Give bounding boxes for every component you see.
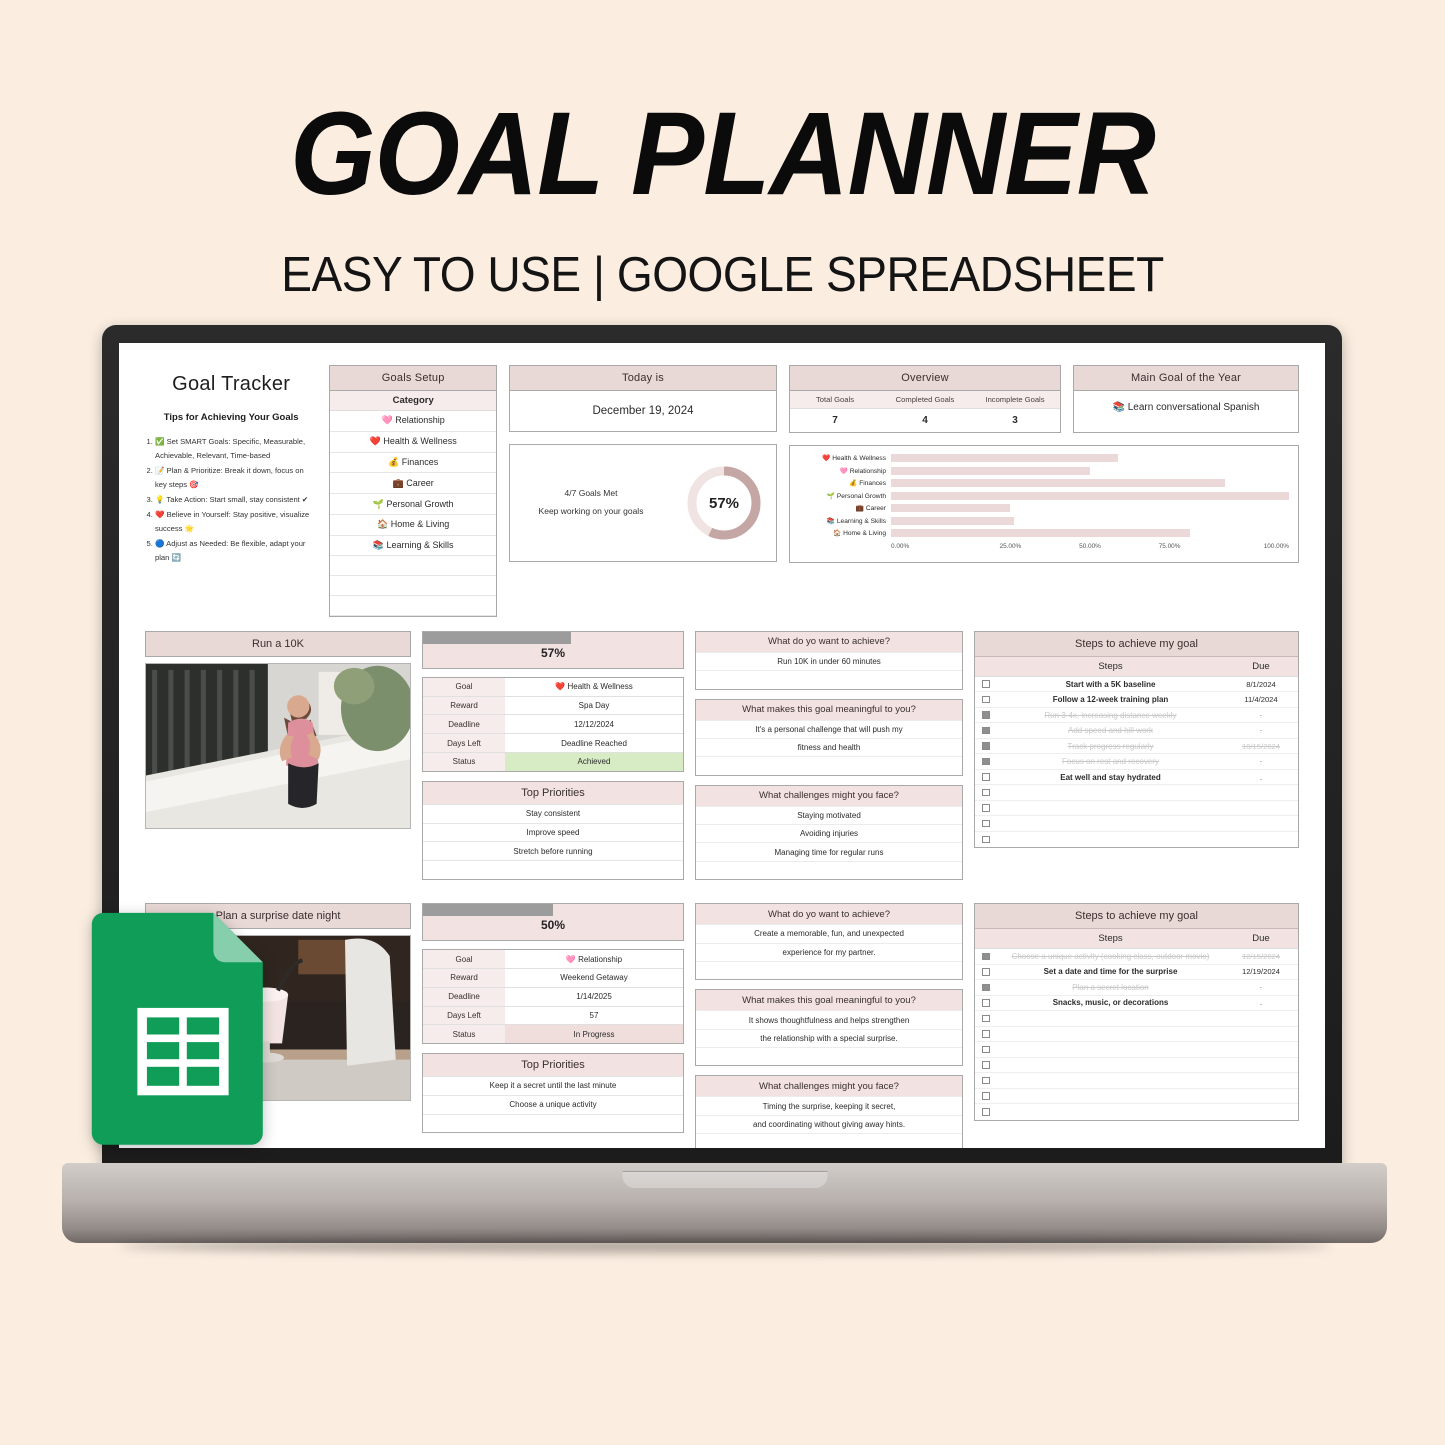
- step-due-date[interactable]: .: [1224, 998, 1298, 1007]
- step-due-date[interactable]: .: [1224, 1029, 1298, 1038]
- step-text[interactable]: Snacks, music, or decorations: [997, 998, 1224, 1007]
- checkbox-icon[interactable]: [982, 1092, 990, 1100]
- step-due-date[interactable]: .: [1224, 804, 1298, 813]
- checkbox-icon[interactable]: [982, 1077, 990, 1085]
- chart-bar-fill: [891, 467, 1090, 475]
- question-answer-line-empty[interactable]: .: [696, 861, 962, 879]
- detail-row: Deadline 12/12/2024: [423, 715, 683, 734]
- goal-card-details-column: 57% Goal ❤️ Health & Wellness Reward Spa…: [422, 631, 684, 889]
- overview-header-cell: Completed Goals: [880, 391, 970, 408]
- overview-column: Overview Total Goals Completed Goals Inc…: [789, 365, 1299, 617]
- step-row: Start with a 5K baseline 8/1/2024: [975, 677, 1298, 693]
- detail-key: Status: [423, 753, 505, 771]
- step-checkbox-cell[interactable]: [975, 1092, 997, 1100]
- chart-axis-tick: 25.00%: [971, 543, 1051, 550]
- step-text[interactable]: .: [997, 1014, 1224, 1023]
- donut-chart-icon: 57%: [681, 460, 767, 546]
- main-goal-panel: Main Goal of the Year 📚 Learn conversati…: [1073, 365, 1299, 433]
- checkbox-icon[interactable]: [982, 804, 990, 812]
- checkbox-icon[interactable]: [982, 1030, 990, 1038]
- overview-value-cell: 7: [790, 409, 880, 432]
- step-due-date[interactable]: 11/4/2024: [1224, 695, 1298, 704]
- question-box: What challenges might you face?Staying m…: [695, 785, 963, 881]
- step-text[interactable]: Track progress regularly: [997, 742, 1224, 751]
- question-answer-line[interactable]: Create a memorable, fun, and unexpected: [696, 924, 962, 942]
- chart-bar-track: [891, 504, 1289, 512]
- step-due-date[interactable]: .: [1224, 1076, 1298, 1085]
- chart-bar-fill: [891, 454, 1118, 462]
- checkbox-icon[interactable]: [982, 1061, 990, 1069]
- today-panel: Today is December 19, 2024: [509, 365, 777, 432]
- chart-bar-row: 💼 Career: [799, 503, 1289, 514]
- step-checkbox-cell[interactable]: [975, 758, 997, 766]
- step-text[interactable]: Start with a 5K baseline: [997, 680, 1224, 689]
- step-row: . .: [975, 801, 1298, 817]
- question-label: What challenges might you face?: [696, 786, 962, 806]
- checkbox-icon[interactable]: [982, 1046, 990, 1054]
- step-checkbox-cell[interactable]: [975, 696, 997, 704]
- step-row: Run 3-4x, increasing distance weekly .: [975, 708, 1298, 724]
- checkbox-icon[interactable]: [982, 789, 990, 797]
- checkbox-icon[interactable]: [982, 836, 990, 844]
- overview-row: Overview Total Goals Completed Goals Inc…: [789, 365, 1299, 433]
- detail-row: Days Left Deadline Reached: [423, 734, 683, 753]
- main-goal-title: Main Goal of the Year: [1074, 366, 1298, 391]
- goal-card: Run a 10K: [145, 631, 1299, 889]
- step-checkbox-cell[interactable]: [975, 1015, 997, 1023]
- goals-met-label: 4/7 Goals Met: [510, 485, 672, 503]
- checkbox-icon[interactable]: [982, 711, 990, 719]
- step-checkbox-cell[interactable]: [975, 789, 997, 797]
- steps-header-due: Due: [1224, 657, 1298, 676]
- step-text[interactable]: .: [997, 1060, 1224, 1069]
- step-checkbox-cell[interactable]: [975, 680, 997, 688]
- progress-percent-label: 50%: [423, 918, 683, 932]
- checkbox-icon[interactable]: [982, 1015, 990, 1023]
- category-row-empty[interactable]: .: [330, 556, 496, 576]
- chart-bar-label: 🩷 Relationship: [799, 467, 891, 475]
- step-row: Track progress regularly 10/15/2024: [975, 739, 1298, 755]
- goal-detail-table: Goal ❤️ Health & Wellness Reward Spa Day…: [422, 677, 684, 772]
- priority-item-empty[interactable]: [423, 1114, 683, 1133]
- detail-row: Days Left 57: [423, 1007, 683, 1026]
- priority-item-empty[interactable]: [423, 860, 683, 879]
- goal-progress-bar: 57%: [422, 631, 684, 669]
- category-row[interactable]: ❤️ Health & Wellness: [330, 432, 496, 453]
- goal-card-questions-column: What do yo want to achieve?Run 10K in un…: [695, 631, 963, 889]
- question-answer-line[interactable]: Avoiding injuries: [696, 824, 962, 842]
- checkbox-icon[interactable]: [982, 680, 990, 688]
- detail-key: Days Left: [423, 1007, 505, 1025]
- detail-row: Reward Spa Day: [423, 697, 683, 716]
- step-checkbox-cell[interactable]: [975, 804, 997, 812]
- step-due-date[interactable]: .: [1224, 983, 1298, 992]
- step-due-date[interactable]: .: [1224, 773, 1298, 782]
- checkbox-icon[interactable]: [982, 696, 990, 704]
- top-priorities-panel: Top Priorities Keep it a secret until th…: [422, 1053, 684, 1133]
- question-answer-line-empty[interactable]: .: [696, 1133, 962, 1148]
- today-date: December 19, 2024: [510, 391, 776, 431]
- goal-cards-container: Run a 10K: [145, 631, 1299, 1148]
- step-due-date[interactable]: 12/19/2024: [1224, 967, 1298, 976]
- donut-percent-label: 57%: [709, 495, 739, 512]
- chart-axis-tick: 0.00%: [891, 543, 971, 550]
- step-text[interactable]: .: [997, 804, 1224, 813]
- step-due-date[interactable]: .: [1224, 1014, 1298, 1023]
- chart-bar-label: 💼 Career: [799, 504, 891, 512]
- checkbox-icon[interactable]: [982, 1108, 990, 1116]
- goal-card-header-column: Run a 10K: [145, 631, 411, 889]
- chart-bar-fill: [891, 517, 1014, 525]
- goal-card-details-column: 50% Goal 🩷 Relationship Reward Weekend G…: [422, 903, 684, 1148]
- question-box: What do yo want to achieve?Run 10K in un…: [695, 631, 963, 690]
- step-due-date[interactable]: .: [1224, 819, 1298, 828]
- goal-tracker-heading: Goal Tracker: [145, 373, 317, 396]
- step-row: Set a date and time for the surprise 12/…: [975, 965, 1298, 981]
- question-answer-line[interactable]: and coordinating without giving away hin…: [696, 1115, 962, 1133]
- step-due-date[interactable]: .: [1224, 788, 1298, 797]
- chart-bar-row: 🏠 Home & Living: [799, 528, 1289, 539]
- category-row[interactable]: 🌱 Personal Growth: [330, 494, 496, 515]
- step-checkbox-cell[interactable]: [975, 773, 997, 781]
- chart-bar-row: 💰 Finances: [799, 478, 1289, 489]
- step-text[interactable]: .: [997, 819, 1224, 828]
- step-due-date[interactable]: 12/15/2024: [1224, 952, 1298, 961]
- step-row: . .: [975, 1073, 1298, 1089]
- tip-item: ✅ Set SMART Goals: Specific, Measurable,…: [155, 435, 315, 463]
- overview-value-cell: 4: [880, 409, 970, 432]
- detail-key: Deadline: [423, 715, 505, 733]
- progress-percent-label: 57%: [423, 646, 683, 660]
- chart-bar-fill: [891, 479, 1225, 487]
- question-answer-line-empty[interactable]: .: [696, 1047, 962, 1065]
- woman-running-photo: [145, 663, 411, 829]
- page-title: GOAL PLANNER: [51, 95, 1395, 213]
- priority-item[interactable]: Stay consistent: [423, 804, 683, 823]
- step-text[interactable]: .: [997, 835, 1224, 844]
- step-text[interactable]: Run 3-4x, increasing distance weekly: [997, 711, 1224, 720]
- detail-key: Deadline: [423, 988, 505, 1006]
- chart-bar-row: ❤️ Health & Wellness: [799, 453, 1289, 464]
- step-checkbox-cell[interactable]: [975, 1108, 997, 1116]
- category-row-empty[interactable]: .: [330, 576, 496, 596]
- laptop-base: [62, 1163, 1387, 1243]
- detail-key: Status: [423, 1025, 505, 1043]
- detail-key: Days Left: [423, 734, 505, 752]
- laptop-screen: Goal Tracker Tips for Achieving Your Goa…: [119, 343, 1325, 1148]
- tip-item: 📝 Plan & Prioritize: Break it down, focu…: [155, 464, 315, 492]
- chart-bar-fill: [891, 504, 1010, 512]
- overview-header-cell: Total Goals: [790, 391, 880, 408]
- tips-title: Tips for Achieving Your Goals: [145, 412, 317, 423]
- chart-bar-row: 📚 Learning & Skills: [799, 516, 1289, 527]
- checkbox-icon[interactable]: [982, 758, 990, 766]
- chart-bar-row: 🩷 Relationship: [799, 466, 1289, 477]
- detail-value[interactable]: 🩷 Relationship: [505, 950, 683, 968]
- step-row: Snacks, music, or decorations .: [975, 996, 1298, 1012]
- tip-item: ❤️ Believe in Yourself: Stay positive, v…: [155, 508, 315, 536]
- checkbox-icon[interactable]: [982, 742, 990, 750]
- step-checkbox-cell[interactable]: [975, 727, 997, 735]
- tip-item: 🔵 Adjust as Needed: Be flexible, adapt y…: [155, 537, 315, 565]
- detail-key: Reward: [423, 697, 505, 715]
- progress-donut: 57%: [672, 460, 776, 546]
- chart-bar-label: 📚 Learning & Skills: [799, 517, 891, 525]
- detail-key: Goal: [423, 950, 505, 968]
- step-due-date[interactable]: 8/1/2024: [1224, 680, 1298, 689]
- step-text[interactable]: Set a date and time for the surprise: [997, 967, 1224, 976]
- detail-key: Reward: [423, 969, 505, 987]
- step-checkbox-cell[interactable]: [975, 953, 997, 961]
- step-due-date[interactable]: .: [1224, 711, 1298, 720]
- steps-panel: Steps to achieve my goal Steps Due Start…: [974, 631, 1299, 849]
- detail-value[interactable]: In Progress: [505, 1025, 683, 1043]
- detail-value[interactable]: ❤️ Health & Wellness: [505, 678, 683, 696]
- steps-title: Steps to achieve my goal: [975, 904, 1298, 929]
- question-answer-line[interactable]: It shows thoughtfulness and helps streng…: [696, 1010, 962, 1028]
- detail-value[interactable]: Weekend Getaway: [505, 969, 683, 987]
- detail-value[interactable]: 1/14/2025: [505, 988, 683, 1006]
- detail-value[interactable]: 57: [505, 1007, 683, 1025]
- step-due-date[interactable]: 10/15/2024: [1224, 742, 1298, 751]
- promo-header: GOAL PLANNER EASY TO USE | GOOGLE SPREAD…: [0, 0, 1445, 303]
- steps-column-headers: Steps Due: [975, 657, 1298, 677]
- goals-setup-column-header: Category: [330, 391, 496, 411]
- detail-row: Status Achieved: [423, 753, 683, 771]
- step-checkbox-cell[interactable]: [975, 1030, 997, 1038]
- overview-panel: Overview Total Goals Completed Goals Inc…: [789, 365, 1061, 433]
- step-checkbox-cell[interactable]: [975, 1061, 997, 1069]
- chart-bar-track: [891, 529, 1289, 537]
- checkbox-icon[interactable]: [982, 727, 990, 735]
- step-text[interactable]: Eat well and stay hydrated: [997, 773, 1224, 782]
- step-checkbox-cell[interactable]: [975, 968, 997, 976]
- chart-bar-track: [891, 467, 1289, 475]
- step-row: Choose a unique activity (cooking class,…: [975, 949, 1298, 965]
- overview-title: Overview: [790, 366, 1060, 391]
- question-answer-line[interactable]: Timing the surprise, keeping it secret,: [696, 1096, 962, 1114]
- checkbox-icon[interactable]: [982, 953, 990, 961]
- category-row[interactable]: 💰 Finances: [330, 453, 496, 474]
- question-box: What challenges might you face?Timing th…: [695, 1075, 963, 1148]
- progress-text: 4/7 Goals Met Keep working on your goals: [510, 485, 672, 521]
- chart-bar-label: 🌱 Personal Growth: [799, 492, 891, 500]
- progress-fill: [423, 632, 571, 644]
- today-and-progress-column: Today is December 19, 2024 4/7 Goals Met…: [509, 365, 777, 617]
- spreadsheet-canvas: Goal Tracker Tips for Achieving Your Goa…: [119, 343, 1325, 1148]
- priority-item[interactable]: Stretch before running: [423, 841, 683, 860]
- step-row: . .: [975, 1011, 1298, 1027]
- overview-headers: Total Goals Completed Goals Incomplete G…: [790, 391, 1060, 409]
- chart-axis-tick: 50.00%: [1050, 543, 1130, 550]
- top-priorities-panel: Top Priorities Stay consistentImprove sp…: [422, 781, 684, 880]
- google-sheets-icon: [88, 900, 278, 1150]
- question-answer-line[interactable]: Run 10K in under 60 minutes: [696, 652, 962, 670]
- checkbox-icon[interactable]: [982, 984, 990, 992]
- step-checkbox-cell[interactable]: [975, 711, 997, 719]
- detail-row: Reward Weekend Getaway: [423, 969, 683, 988]
- detail-key: Goal: [423, 678, 505, 696]
- category-row[interactable]: 📚 Learning & Skills: [330, 536, 496, 557]
- step-text[interactable]: .: [997, 788, 1224, 797]
- step-row: . .: [975, 1058, 1298, 1074]
- step-checkbox-cell[interactable]: [975, 984, 997, 992]
- top-priorities-title: Top Priorities: [423, 1054, 683, 1076]
- step-checkbox-cell[interactable]: [975, 1077, 997, 1085]
- chart-bar-fill: [891, 492, 1289, 500]
- step-row: Eat well and stay hydrated .: [975, 770, 1298, 786]
- question-answer-line[interactable]: Managing time for regular runs: [696, 842, 962, 860]
- step-row: . .: [975, 1042, 1298, 1058]
- steps-title: Steps to achieve my goal: [975, 632, 1298, 657]
- steps-header-steps: Steps: [997, 929, 1224, 948]
- main-goal-value[interactable]: 📚 Learn conversational Spanish: [1074, 391, 1298, 424]
- step-due-date[interactable]: .: [1224, 1107, 1298, 1116]
- goal-detail-table: Goal 🩷 Relationship Reward Weekend Getaw…: [422, 949, 684, 1044]
- detail-row: Status In Progress: [423, 1025, 683, 1043]
- step-text[interactable]: .: [997, 1045, 1224, 1054]
- step-checkbox-cell[interactable]: [975, 1046, 997, 1054]
- goal-card-steps-column: Steps to achieve my goal Steps Due Choos…: [974, 903, 1299, 1148]
- chart-bar-track: [891, 454, 1289, 462]
- question-answer-line[interactable]: the relationship with a special surprise…: [696, 1029, 962, 1047]
- question-label: What makes this goal meaningful to you?: [696, 700, 962, 720]
- step-text[interactable]: Add speed and hill work: [997, 726, 1224, 735]
- detail-row: Deadline 1/14/2025: [423, 988, 683, 1007]
- step-row: Focus on rest and recovery .: [975, 754, 1298, 770]
- step-text[interactable]: Focus on rest and recovery: [997, 757, 1224, 766]
- step-checkbox-cell[interactable]: [975, 999, 997, 1007]
- question-answer-line-empty[interactable]: .: [696, 756, 962, 774]
- goals-setup-title: Goals Setup: [330, 366, 496, 391]
- step-due-date[interactable]: .: [1224, 835, 1298, 844]
- detail-value[interactable]: Deadline Reached: [505, 734, 683, 752]
- steps-header-due: Due: [1224, 929, 1298, 948]
- laptop-shadow: [120, 1239, 1330, 1253]
- step-due-date[interactable]: .: [1224, 1060, 1298, 1069]
- checkbox-icon[interactable]: [982, 773, 990, 781]
- progress-message: Keep working on your goals: [510, 503, 672, 521]
- step-checkbox-cell[interactable]: [975, 836, 997, 844]
- step-row: . .: [975, 785, 1298, 801]
- question-answer-line[interactable]: Staying motivated: [696, 806, 962, 824]
- question-label: What do yo want to achieve?: [696, 632, 962, 652]
- tip-item: 💡 Take Action: Start small, stay consist…: [155, 493, 315, 507]
- step-text[interactable]: .: [997, 1029, 1224, 1038]
- question-label: What makes this goal meaningful to you?: [696, 990, 962, 1010]
- today-title: Today is: [510, 366, 776, 391]
- progress-panel: 4/7 Goals Met Keep working on your goals…: [509, 444, 777, 562]
- step-due-date[interactable]: .: [1224, 1091, 1298, 1100]
- steps-panel: Steps to achieve my goal Steps Due Choos…: [974, 903, 1299, 1121]
- detail-value[interactable]: 12/12/2024: [505, 715, 683, 733]
- detail-row: Goal 🩷 Relationship: [423, 950, 683, 969]
- detail-value[interactable]: Spa Day: [505, 697, 683, 715]
- chart-x-axis: 0.00%25.00%50.00%75.00%100.00%: [891, 543, 1289, 550]
- goals-setup-panel: Goals Setup Category 🩷 Relationship ❤️ H…: [329, 365, 497, 617]
- category-row-empty[interactable]: .: [330, 596, 496, 616]
- question-answer-line-empty[interactable]: .: [696, 670, 962, 688]
- priority-item[interactable]: Improve speed: [423, 823, 683, 842]
- goal-card-steps-column: Steps to achieve my goal Steps Due Start…: [974, 631, 1299, 889]
- detail-row: Goal ❤️ Health & Wellness: [423, 678, 683, 697]
- step-due-date[interactable]: .: [1224, 1045, 1298, 1054]
- question-answer-line-empty[interactable]: .: [696, 961, 962, 979]
- laptop-lid: Goal Tracker Tips for Achieving Your Goa…: [102, 325, 1342, 1170]
- step-row: . .: [975, 1089, 1298, 1105]
- chart-axis-tick: 75.00%: [1130, 543, 1210, 550]
- overview-values: 7 4 3: [790, 409, 1060, 432]
- top-priorities-title: Top Priorities: [423, 782, 683, 804]
- chart-axis-tick: 100.00%: [1209, 543, 1289, 550]
- chart-bar-label: 💰 Finances: [799, 479, 891, 487]
- step-due-date[interactable]: .: [1224, 757, 1298, 766]
- overview-value-cell: 3: [970, 409, 1060, 432]
- step-due-date[interactable]: .: [1224, 726, 1298, 735]
- priority-item[interactable]: Keep it a secret until the last minute: [423, 1076, 683, 1095]
- step-row: . .: [975, 1027, 1298, 1043]
- step-row: Add speed and hill work .: [975, 723, 1298, 739]
- step-row: Follow a 12-week training plan 11/4/2024: [975, 692, 1298, 708]
- category-row[interactable]: 💼 Career: [330, 473, 496, 494]
- question-answer-line[interactable]: It's a personal challenge that will push…: [696, 720, 962, 738]
- chart-bar-label: ❤️ Health & Wellness: [799, 454, 891, 462]
- checkbox-icon[interactable]: [982, 999, 990, 1007]
- category-row[interactable]: 🏠 Home & Living: [330, 515, 496, 536]
- question-box: What makes this goal meaningful to you?I…: [695, 989, 963, 1066]
- step-text[interactable]: Plan a secret location: [997, 983, 1224, 992]
- category-progress-chart: ❤️ Health & Wellness🩷 Relationship💰 Fina…: [789, 445, 1299, 563]
- step-text[interactable]: .: [997, 1091, 1224, 1100]
- step-checkbox-cell[interactable]: [975, 820, 997, 828]
- question-label: What do yo want to achieve?: [696, 904, 962, 924]
- goal-card: Plan a surprise date night 50%: [145, 903, 1299, 1148]
- dashboard-top-row: Goal Tracker Tips for Achieving Your Goa…: [145, 365, 1299, 617]
- steps-header-steps: Steps: [997, 657, 1224, 676]
- goal-progress-bar: 50%: [422, 903, 684, 941]
- checkbox-icon[interactable]: [982, 968, 990, 976]
- question-label: What challenges might you face?: [696, 1076, 962, 1096]
- step-row: Plan a secret location .: [975, 980, 1298, 996]
- category-row[interactable]: 🩷 Relationship: [330, 411, 496, 432]
- priority-item[interactable]: Choose a unique activity: [423, 1095, 683, 1114]
- goal-card-title: Run a 10K: [145, 631, 411, 657]
- question-answer-line[interactable]: experience for my partner.: [696, 943, 962, 961]
- overview-header-cell: Incomplete Goals: [970, 391, 1060, 408]
- step-text[interactable]: .: [997, 1076, 1224, 1085]
- chart-bar-fill: [891, 529, 1190, 537]
- chart-bar-track: [891, 479, 1289, 487]
- progress-fill: [423, 904, 553, 916]
- goal-tracker-panel: Goal Tracker Tips for Achieving Your Goa…: [145, 365, 317, 617]
- step-text[interactable]: Follow a 12-week training plan: [997, 695, 1224, 704]
- step-row: . .: [975, 832, 1298, 848]
- step-text[interactable]: .: [997, 1107, 1224, 1116]
- chart-bar-label: 🏠 Home & Living: [799, 529, 891, 537]
- steps-column-headers: Steps Due: [975, 929, 1298, 949]
- step-row: . .: [975, 1104, 1298, 1120]
- chart-bar-row: 🌱 Personal Growth: [799, 491, 1289, 502]
- chart-bar-track: [891, 517, 1289, 525]
- step-checkbox-cell[interactable]: [975, 742, 997, 750]
- question-answer-line[interactable]: fitness and health: [696, 738, 962, 756]
- step-row: . .: [975, 816, 1298, 832]
- chart-bar-track: [891, 492, 1289, 500]
- detail-value[interactable]: Achieved: [505, 753, 683, 771]
- step-text[interactable]: Choose a unique activity (cooking class,…: [997, 952, 1224, 961]
- page-subtitle: EASY TO USE | GOOGLE SPREADSHEET: [43, 247, 1401, 303]
- checkbox-icon[interactable]: [982, 820, 990, 828]
